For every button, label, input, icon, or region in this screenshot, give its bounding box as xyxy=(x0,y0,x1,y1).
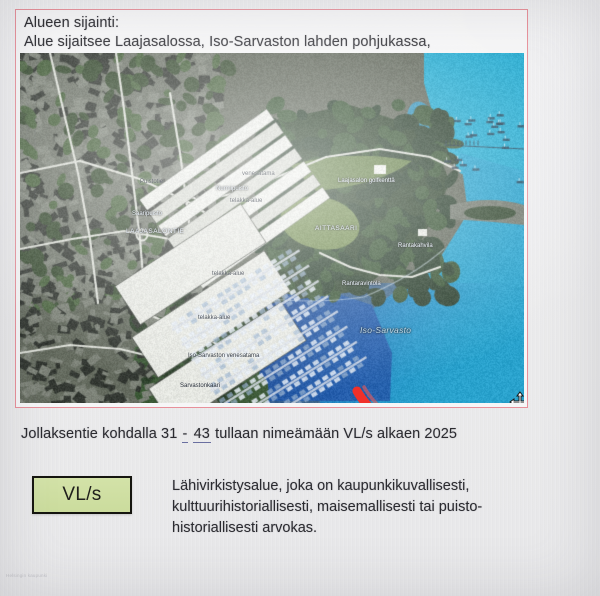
caption-before: Jollaksentie kohdalla 31 xyxy=(21,426,177,442)
aerial-map[interactable]: PuistotieNurmipuistoSaaripuistoLAAJASALO… xyxy=(20,53,524,403)
caption-line: Jollaksentie kohdalla 31 - 43 tullaan ni… xyxy=(21,426,457,442)
photographed-slide-page: Alueen sijainti: Alue sijaitsee Laajasal… xyxy=(0,0,600,596)
legend-code-label: VL/s xyxy=(62,484,101,506)
legend-description-line-1: Lähivirkistysalue, joka on kaupunkikuval… xyxy=(172,476,482,497)
heading-line-2: Alue sijaitsee Laajasalossa, Iso-Sarvast… xyxy=(24,33,521,52)
legend-description-line-3: historiallisesti arvokas. xyxy=(172,518,482,539)
legend-description: Lähivirkistysalue, joka on kaupunkikuval… xyxy=(172,476,482,539)
heading-block: Alueen sijainti: Alue sijaitsee Laajasal… xyxy=(24,14,521,52)
legend-description-line-2: kulttuurihistoriallisesti, maisemallises… xyxy=(172,497,482,518)
footer-note: Helsingin kaupunki xyxy=(6,573,47,578)
legend-code-swatch: VL/s xyxy=(32,476,132,514)
caption-range-dash: - xyxy=(182,426,189,443)
map-frame-block: Alueen sijainti: Alue sijaitsee Laajasal… xyxy=(15,9,528,408)
legend-row: VL/s Lähivirkistysalue, joka on kaupunki… xyxy=(32,476,572,539)
aerial-map-imagery xyxy=(20,53,524,403)
caption-range-end: 43 xyxy=(193,426,211,443)
caption-rest: tullaan nimeämään VL/s alkaen 2025 xyxy=(215,426,457,442)
heading-line-1: Alueen sijainti: xyxy=(24,14,521,33)
